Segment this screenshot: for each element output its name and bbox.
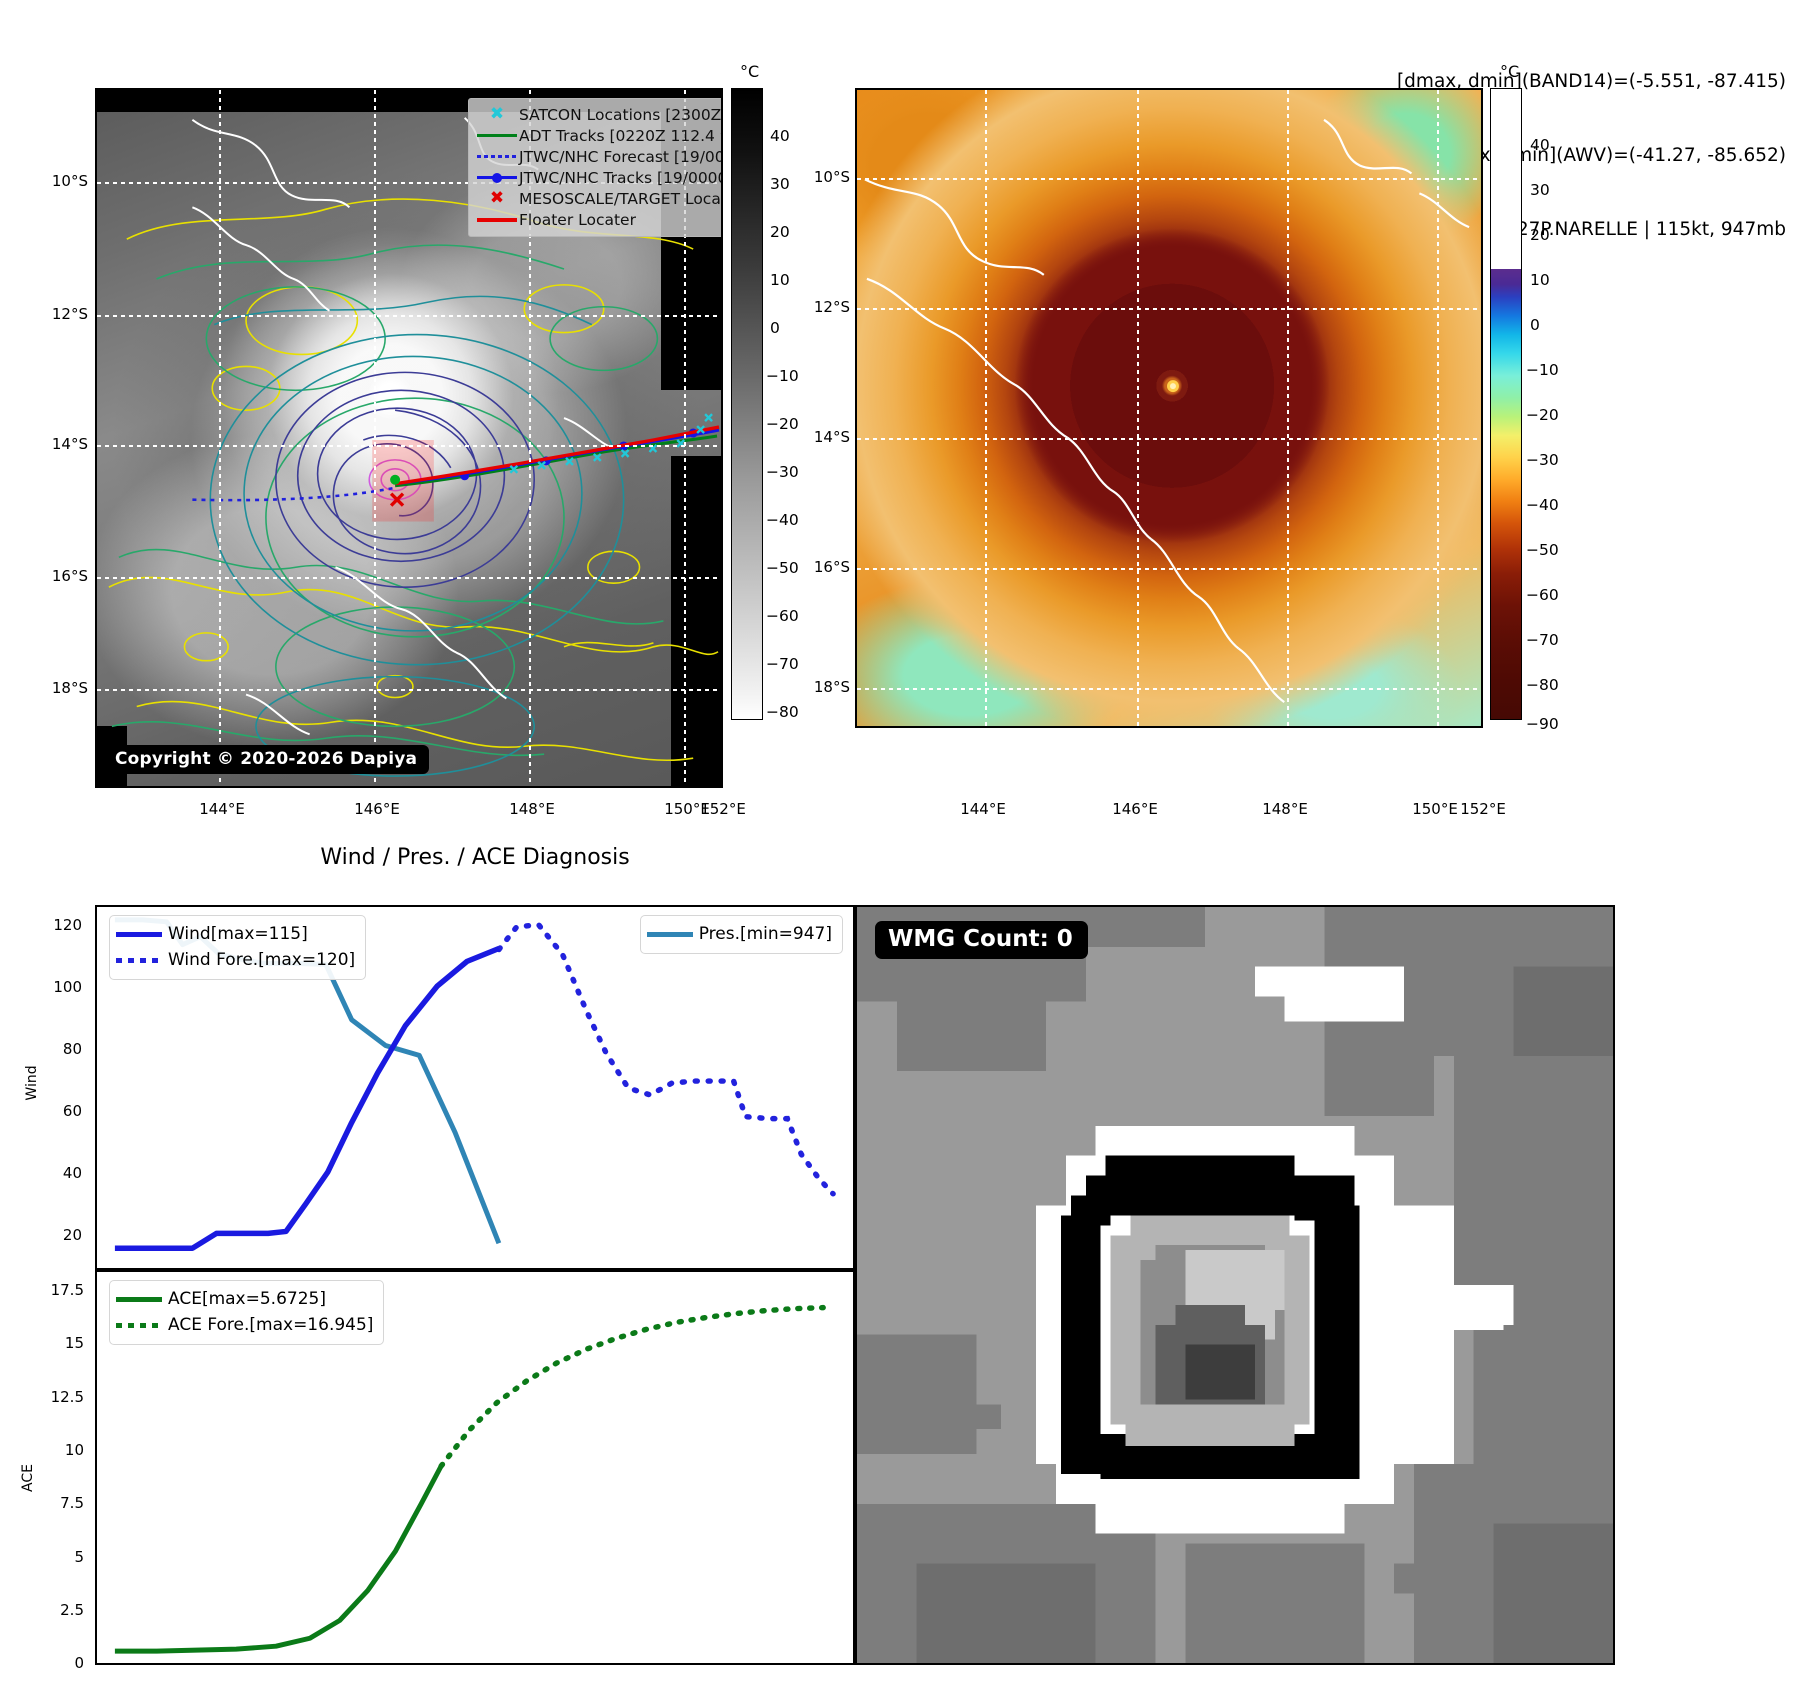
ir-gridline-h-16s [97,577,723,579]
mesoscale-x-icon: ✖ [475,190,519,207]
ace-ytick-175: 17.5 [18,1281,84,1299]
figure-root: HIMAWARI-9 BAND14-DIAS TARGET AREA Time:… [0,0,1801,1690]
ace-chart[interactable]: ACE[max=5.6725] ACE Fore.[max=16.945] [95,1270,855,1665]
ir-gridline-h-18s [97,689,723,691]
ace-ytick-125: 12.5 [18,1388,84,1406]
ir-xtick-148e: 148°E [497,800,567,818]
awv-cbar-tick-0: 0 [1530,316,1540,334]
awv-colorbar [1490,88,1522,720]
legend-label: Pres.[min=947] [699,924,832,944]
wmg-count-badge: WMG Count: 0 [875,921,1088,959]
awv-ytick-14s: 14°S [782,428,850,446]
awv-ytick-18s: 18°S [782,678,850,696]
wind-ytick-120: 120 [20,916,82,934]
legend-label: ADT Tracks [0220Z 112.4 949.1] [519,127,723,145]
legend-label: JTWC/NHC Tracks [19/0000Z] [519,169,723,187]
ir-cbar-tick-m40: −40 [766,511,799,529]
awv-gridline-h-10s [857,178,1483,180]
ace-ytick-150: 15 [18,1334,84,1352]
ir-colorbar-unit: °C [740,62,759,81]
ir-cbar-tick-10: 10 [770,271,790,289]
awv-cbar-tick-10: 10 [1530,271,1550,289]
awv-ytick-12s: 12°S [782,298,850,316]
ir-cbar-tick-m10: −10 [766,367,799,385]
legend-label: Wind Fore.[max=120] [168,950,355,970]
awv-cbar-tick-m40: −40 [1526,496,1559,514]
ir-ytick-18s: 18°S [20,679,88,697]
ace-line-icon [116,1297,168,1302]
ir-ytick-14s: 14°S [20,435,88,453]
ace-ytick-50: 5 [18,1548,84,1566]
awv-cbar-tick-m60: −60 [1526,586,1559,604]
wind-pressure-chart[interactable]: Wind[max=115] Wind Fore.[max=120] Pres.[… [95,905,855,1270]
awv-cbar-tick-m70: −70 [1526,631,1559,649]
ir-legend: ✖ SATCON Locations [2300Z 122 944] ADT T… [468,98,723,237]
legend-item-adt: ADT Tracks [0220Z 112.4 949.1] [475,125,723,146]
ace-ytick-25: 2.5 [18,1601,84,1619]
legend-item-wind: Wind[max=115] [116,921,355,947]
legend-label: JTWC/NHC Forecast [19/0000Z] [519,148,723,166]
ir-satellite-panel[interactable]: ✖ SATCON Locations [2300Z 122 944] ADT T… [95,88,723,788]
awv-cbar-tick-m90: −90 [1526,715,1559,733]
legend-label: Floater Locater [519,211,636,229]
adt-line-icon [475,134,519,138]
legend-item-mesoscale: ✖ MESOSCALE/TARGET Location [475,188,723,209]
ir-colorbar [731,88,763,720]
ir-ytick-16s: 16°S [20,567,88,585]
legend-item-satcon: ✖ SATCON Locations [2300Z 122 944] [475,104,723,125]
awv-coastline-overlay [857,90,1481,726]
wmg-panel[interactable]: WMG Count: 0 [855,905,1615,1665]
awv-cbar-tick-m80: −80 [1526,676,1559,694]
awv-gridline-v-144 [985,90,987,728]
ace-legend: ACE[max=5.6725] ACE Fore.[max=16.945] [109,1280,384,1345]
ir-xtick-146e: 146°E [342,800,412,818]
awv-satellite-panel[interactable] [855,88,1483,728]
awv-gridline-v-150 [1437,90,1439,728]
wind-axis-label: Wind [24,1043,40,1123]
pressure-line-icon [647,932,699,937]
ir-gridline-h-12s [97,315,723,317]
pressure-legend: Pres.[min=947] [640,915,843,954]
legend-item-floater: Floater Locater [475,209,723,230]
satcon-x-icon: ✖ [475,106,519,123]
ir-cbar-tick-m60: −60 [766,607,799,625]
awv-cbar-tick-20: 20 [1530,226,1550,244]
legend-label: ACE[max=5.6725] [168,1289,326,1309]
awv-gridline-h-12s [857,308,1483,310]
ir-cbar-tick-20: 20 [770,223,790,241]
legend-item-jtwc-tracks: JTWC/NHC Tracks [19/0000Z] [475,167,723,188]
ir-gridline-h-14s [97,445,723,447]
ir-xtick-144e: 144°E [187,800,257,818]
awv-cbar-tick-30: 30 [1530,181,1550,199]
ir-xtick-152e: 152°E [688,800,758,818]
ir-gridline-v-146 [374,90,376,788]
ir-cbar-tick-m80: −80 [766,703,799,721]
awv-gridline-h-16s [857,568,1483,570]
awv-ytick-10s: 10°S [782,168,850,186]
awv-cbar-tick-m30: −30 [1526,451,1559,469]
ir-cbar-tick-0: 0 [770,319,780,337]
awv-gridline-v-146 [1137,90,1139,728]
legend-item-jtwc-forecast: JTWC/NHC Forecast [19/0000Z] [475,146,723,167]
legend-label: Wind[max=115] [168,924,308,944]
legend-label: SATCON Locations [2300Z 122 944] [519,106,723,124]
wind-line-icon [116,932,168,937]
awv-cbar-tick-m10: −10 [1526,361,1559,379]
ace-axis-label: ACE [20,1438,36,1518]
legend-label: MESOSCALE/TARGET Location [519,190,723,208]
awv-ytick-16s: 16°S [782,558,850,576]
wind-ytick-100: 100 [20,978,82,996]
ir-ytick-12s: 12°S [20,305,88,323]
ace-forecast-dotted-icon [116,1323,168,1328]
awv-cbar-tick-40: 40 [1530,136,1550,154]
chart-title: Wind / Pres. / ACE Diagnosis [95,845,855,870]
awv-gridline-h-14s [857,438,1483,440]
ir-ytick-10s: 10°S [20,172,88,190]
wind-ytick-20: 20 [20,1226,82,1244]
ir-cbar-tick-m30: −30 [766,463,799,481]
awv-xtick-148e: 148°E [1250,800,1320,818]
legend-item-wind-forecast: Wind Fore.[max=120] [116,947,355,973]
awv-xtick-144e: 144°E [948,800,1018,818]
track-line-marker-icon [475,176,519,180]
ir-gridline-v-144 [219,90,221,788]
ir-cbar-tick-40: 40 [770,127,790,145]
wind-ytick-40: 40 [20,1164,82,1182]
wind-forecast-dotted-icon [116,958,168,963]
legend-label: ACE Fore.[max=16.945] [168,1315,373,1335]
wmg-bitmap [857,907,1613,1663]
legend-item-ace-forecast: ACE Fore.[max=16.945] [116,1312,373,1338]
awv-cbar-tick-m20: −20 [1526,406,1559,424]
awv-xtick-146e: 146°E [1100,800,1170,818]
wind-legend: Wind[max=115] Wind Fore.[max=120] [109,915,366,980]
awv-gridline-h-18s [857,688,1483,690]
floater-line-icon [475,218,519,222]
forecast-dotted-icon [475,155,519,158]
awv-gridline-v-148 [1287,90,1289,728]
ir-cbar-tick-m70: −70 [766,655,799,673]
legend-item-ace: ACE[max=5.6725] [116,1286,373,1312]
awv-colorbar-unit: °C [1500,62,1519,81]
copyright-notice: Copyright © 2020-2026 Dapiya [105,745,429,774]
awv-xtick-152e: 152°E [1448,800,1518,818]
legend-item-pressure: Pres.[min=947] [647,921,832,947]
awv-cbar-tick-m50: −50 [1526,541,1559,559]
ace-ytick-00: 0 [18,1654,84,1672]
